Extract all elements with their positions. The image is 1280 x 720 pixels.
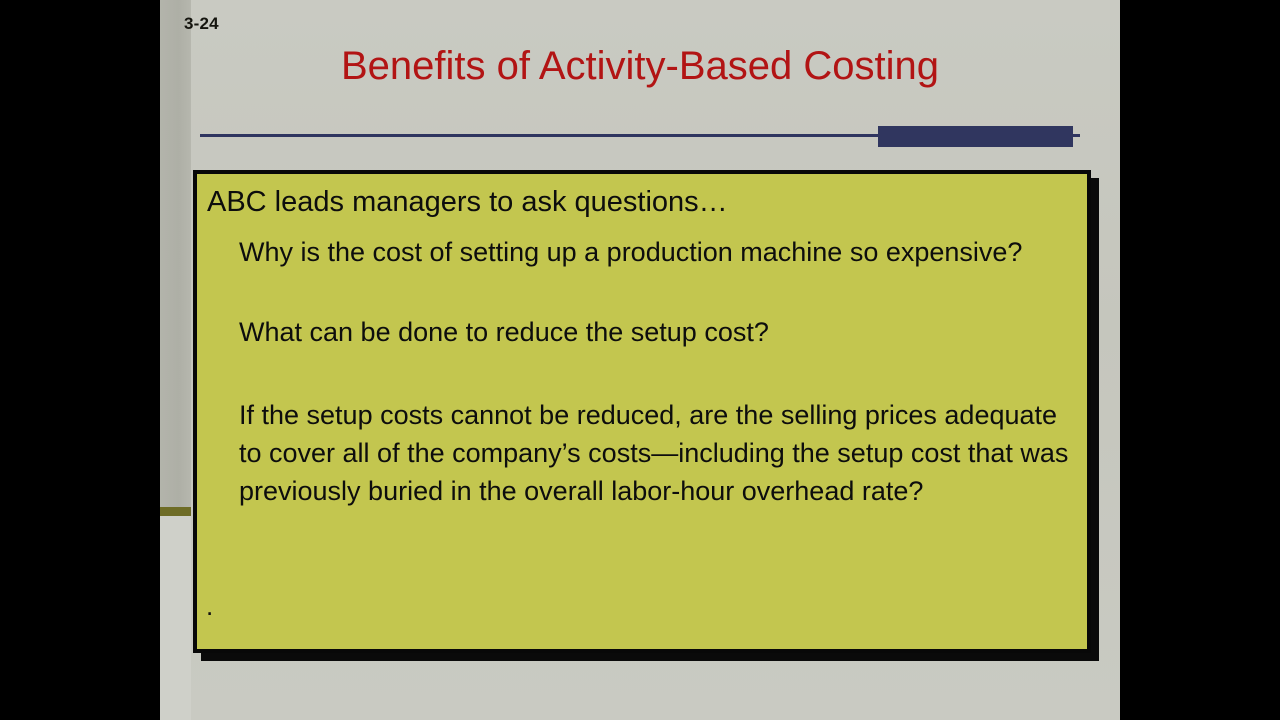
page-title: Benefits of Activity-Based Costing: [200, 44, 1080, 89]
left-band-lower-gray: [160, 516, 191, 720]
left-band-olive-foot: [160, 507, 191, 516]
trailing-period-mark: .: [206, 593, 213, 619]
screenshot-canvas: 3-24 Benefits of Activity-Based Costing …: [0, 0, 1280, 720]
left-gray-band: [160, 0, 191, 513]
question-item-2: What can be done to reduce the setup cos…: [239, 313, 1077, 351]
slide-number: 3-24: [184, 14, 219, 34]
question-item-3: If the setup costs cannot be reduced, ar…: [239, 396, 1077, 511]
question-item-1: Why is the cost of setting up a producti…: [239, 233, 1077, 271]
title-divider-navy-block: [878, 126, 1073, 147]
content-box: ABC leads managers to ask questions… Why…: [193, 170, 1091, 653]
content-box-inner: ABC leads managers to ask questions… Why…: [197, 174, 1087, 649]
content-lead-line: ABC leads managers to ask questions…: [207, 188, 1077, 217]
presentation-slide: 3-24 Benefits of Activity-Based Costing …: [160, 0, 1120, 720]
